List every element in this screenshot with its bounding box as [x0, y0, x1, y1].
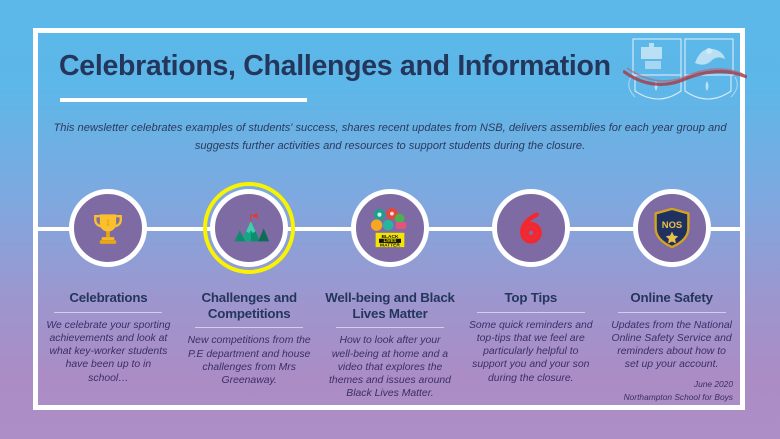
section-body: We celebrate your sporting achievements … — [46, 319, 170, 385]
section-heading: Celebrations — [69, 290, 147, 306]
footer: June 2020 Northampton School for Boys — [624, 378, 733, 404]
svg-text:1: 1 — [106, 218, 111, 227]
section-celebrations[interactable]: 1 Celebrations We celebrate your sportin… — [38, 180, 179, 405]
section-columns: 1 Celebrations We celebrate your sportin… — [38, 180, 742, 405]
section-icon-circle-wellbeing: BLACK LIVES MATTER — [351, 189, 429, 267]
section-body: How to look after your well-being at hom… — [328, 334, 452, 400]
nos-shield-icon: NOS — [652, 207, 692, 249]
section-heading: Top Tips — [505, 290, 558, 306]
section-heading: Well-being and Black Lives Matter — [320, 290, 461, 321]
section-heading-rule — [336, 327, 444, 328]
section-online-safety[interactable]: NOS Online Safety Updates from the Natio… — [601, 180, 742, 405]
section-heading: Online Safety — [630, 290, 712, 306]
svg-text:NOS: NOS — [661, 220, 681, 231]
black-lives-matter-icon: BLACK LIVES MATTER — [368, 206, 412, 250]
newsletter-slide: Celebrations, Challenges and Information… — [0, 0, 780, 439]
section-icon-wrap-online-safety: NOS — [624, 180, 720, 276]
section-challenges-and-competitions[interactable]: Challenges and Competitions New competit… — [179, 180, 320, 405]
svg-text:LIVES: LIVES — [384, 238, 397, 243]
section-wellbeing-and-black-lives-matter[interactable]: BLACK LIVES MATTER Well-being and Black … — [320, 180, 461, 405]
section-icon-wrap-top-tips — [483, 180, 579, 276]
svg-text:MATTER: MATTER — [380, 243, 400, 249]
section-top-tips[interactable]: Top Tips Some quick reminders and top-ti… — [460, 180, 601, 405]
section-heading: Challenges and Competitions — [179, 290, 320, 321]
section-icon-wrap-wellbeing: BLACK LIVES MATTER — [342, 180, 438, 276]
section-icon-wrap-celebrations: 1 — [60, 180, 156, 276]
section-icon-circle-celebrations: 1 — [69, 189, 147, 267]
trophy-icon: 1 — [88, 208, 128, 248]
footer-date: June 2020 — [624, 378, 733, 391]
number-six-icon — [510, 207, 552, 249]
section-body: Updates from the National Online Safety … — [610, 319, 734, 372]
section-body: New competitions from the P.E department… — [187, 334, 311, 387]
section-icon-circle-online-safety: NOS — [633, 189, 711, 267]
section-heading-rule — [477, 312, 585, 313]
title-underline-rule — [60, 98, 307, 102]
page-title: Celebrations, Challenges and Information — [59, 50, 659, 83]
section-icon-wrap-challenges — [201, 180, 297, 276]
mountain-flag-icon — [227, 210, 271, 247]
slide-subtitle: This newsletter celebrates examples of s… — [52, 120, 728, 156]
section-heading-rule — [618, 312, 726, 313]
section-body: Some quick reminders and top-tips that w… — [469, 319, 593, 385]
section-icon-circle-challenges — [210, 189, 288, 267]
section-heading-rule — [195, 327, 303, 328]
section-heading-rule — [54, 312, 162, 313]
footer-school: Northampton School for Boys — [624, 391, 733, 404]
section-icon-circle-top-tips — [492, 189, 570, 267]
